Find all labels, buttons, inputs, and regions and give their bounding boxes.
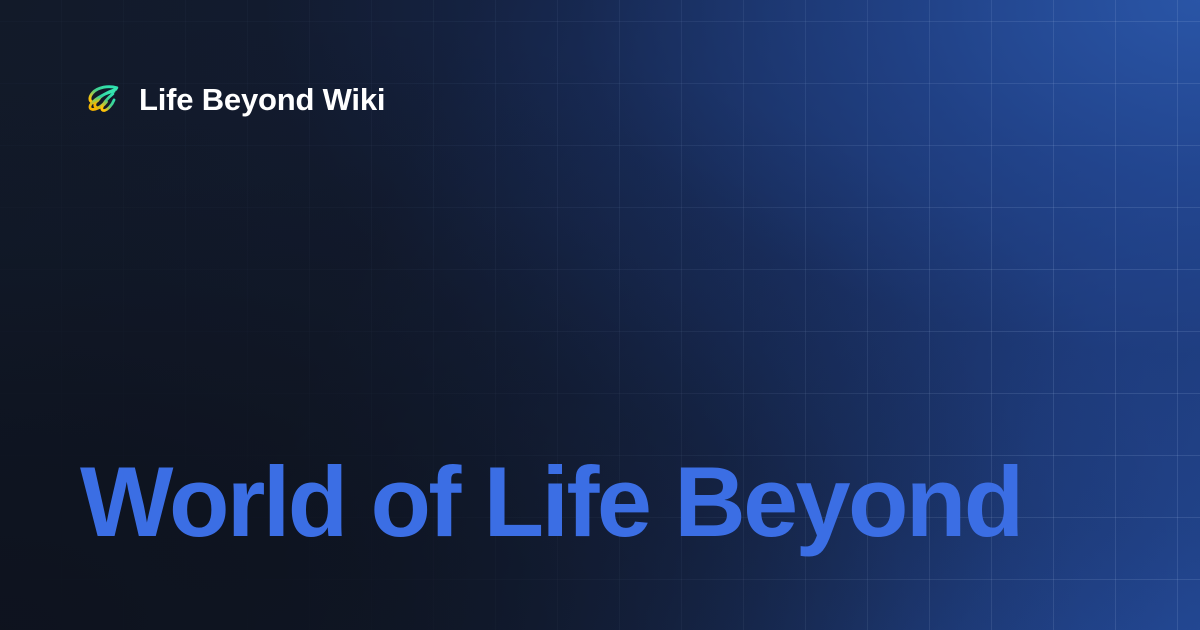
page-title: World of Life Beyond	[80, 452, 1120, 551]
life-beyond-swirl-logo-icon	[84, 80, 122, 118]
og-social-card: Life Beyond Wiki World of Life Beyond	[0, 0, 1200, 630]
brand-lockup: Life Beyond Wiki	[84, 80, 385, 118]
brand-name: Life Beyond Wiki	[139, 84, 385, 115]
